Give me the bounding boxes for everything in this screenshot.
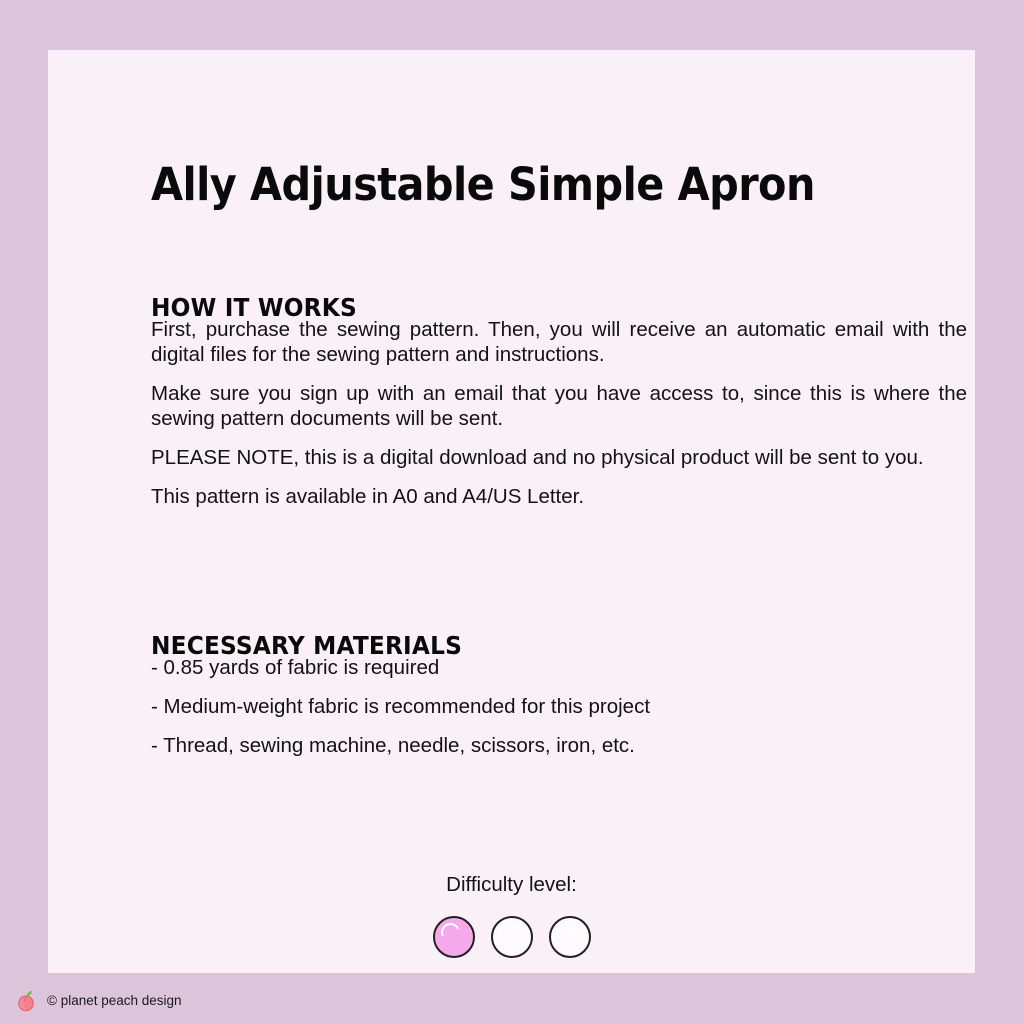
peach-icon — [14, 989, 38, 1013]
list-item: - Thread, sewing machine, needle, scisso… — [151, 733, 967, 758]
list-item: - 0.85 yards of fabric is required — [151, 655, 967, 680]
footer-copyright-text: © planet peach design — [47, 994, 182, 1008]
footer: © planet peach design — [14, 989, 182, 1013]
difficulty-dot-2 — [491, 916, 533, 958]
dot-highlight-icon — [438, 920, 462, 944]
list-item: - Medium-weight fabric is recommended fo… — [151, 694, 967, 719]
difficulty-rating — [48, 916, 975, 958]
paragraph: First, purchase the sewing pattern. Then… — [151, 317, 967, 367]
page-title: Ally Adjustable Simple Apron — [151, 158, 815, 211]
paragraph: This pattern is available in A0 and A4/U… — [151, 484, 967, 509]
difficulty-dot-1 — [433, 916, 475, 958]
how-it-works-body: First, purchase the sewing pattern. Then… — [151, 317, 967, 509]
difficulty-section: Difficulty level: — [48, 872, 975, 958]
dot-highlight-icon — [496, 920, 520, 944]
materials-list: - 0.85 yards of fabric is required - Med… — [151, 655, 967, 758]
difficulty-dot-3 — [549, 916, 591, 958]
paragraph: Make sure you sign up with an email that… — [151, 381, 967, 431]
paragraph: PLEASE NOTE, this is a digital download … — [151, 445, 967, 470]
difficulty-label: Difficulty level: — [48, 872, 975, 897]
dot-highlight-icon — [554, 920, 578, 944]
product-info-card: Ally Adjustable Simple Apron HOW IT WORK… — [48, 50, 975, 973]
